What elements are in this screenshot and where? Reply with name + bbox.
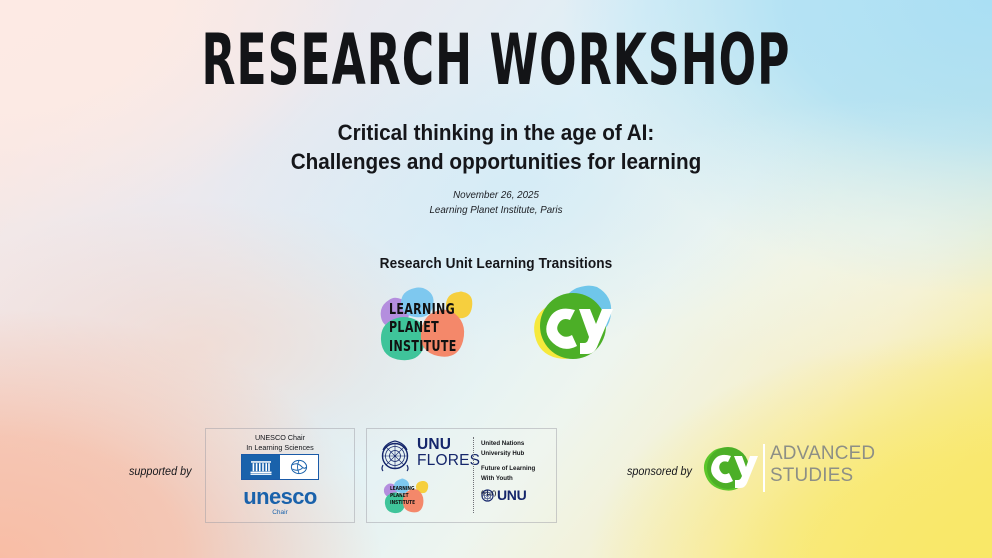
page-title: RESEARCH WORKSHOP <box>149 24 843 97</box>
subtitle-line-1: Critical thinking in the age of AI: <box>40 118 953 147</box>
unu-flores-panel: UNU FLORES LEARNING PLANET INSTITUTE <box>366 428 557 523</box>
greek-temple-icon <box>242 455 280 479</box>
unu-mark-text: UNU <box>497 487 526 503</box>
unu-hub-line-2: Future of Learning With Youth <box>481 464 548 484</box>
lpi-wordmark: LEARNING PLANET INSTITUTE <box>389 300 457 355</box>
supported-by-label: supported by <box>129 466 192 478</box>
cy-advanced-wordmark: ADVANCED STUDIES <box>770 443 875 487</box>
unu-hub-line-1: United Nations University Hub <box>481 439 548 459</box>
learning-planet-institute-logo: LEARNING PLANET INSTITUTE <box>367 280 487 372</box>
event-venue: Learning Planet Institute, Paris <box>35 203 958 218</box>
unu-panel-lpi-logo: LEARNING PLANET INSTITUTE <box>379 476 435 516</box>
unu-word: UNU <box>417 437 480 453</box>
event-date: November 26, 2025 <box>35 188 958 203</box>
unesco-chair-panel: UNESCO Chair In Learning Sciences <box>205 428 355 523</box>
lpi-line-1: LEARNING <box>389 300 457 318</box>
unu-flores-brand: UNU FLORES LEARNING PLANET INSTITUTE <box>373 434 471 516</box>
cy-advanced-divider <box>763 444 765 492</box>
main-logo-row: LEARNING PLANET INSTITUTE <box>0 278 992 374</box>
unesco-head-line-2: In Learning Sciences <box>210 443 351 453</box>
lpi-line-2: PLANET <box>389 318 457 336</box>
cy-advanced-line-2: STUDIES <box>770 465 875 487</box>
research-unit-label: Research Unit Learning Transitions <box>30 256 962 272</box>
cy-advanced-studies-logo: ADVANCED STUDIES <box>700 440 875 498</box>
unu-logo-mark: UNU <box>481 487 526 503</box>
subtitle: Critical thinking in the age of AI: Chal… <box>40 118 953 177</box>
united-nations-emblem-icon <box>377 438 413 474</box>
cy-university-logo <box>523 280 625 372</box>
unu-lpi-line-1: LEARNING <box>390 486 415 493</box>
panel-divider <box>473 437 474 513</box>
cy-mark-icon <box>700 440 762 496</box>
cy-advanced-line-1: ADVANCED <box>770 443 875 465</box>
unu-panel-lpi-wordmark: LEARNING PLANET INSTITUTE <box>390 486 415 507</box>
poster-canvas: RESEARCH WORKSHOP Critical thinking in t… <box>0 0 992 558</box>
unu-lpi-line-3: INSTITUTE <box>390 500 415 507</box>
unu-lpi-line-2: PLANET <box>390 493 415 500</box>
un-emblem-small-icon <box>481 489 494 502</box>
unu-flores-wordmark: UNU FLORES <box>417 437 480 469</box>
sponsored-by-label: sponsored by <box>627 466 692 478</box>
cy-logo-icon <box>523 280 625 372</box>
unesco-globe-icon <box>280 455 318 479</box>
unesco-head-line-1: UNESCO Chair <box>210 433 351 443</box>
cy-advanced-mark <box>700 440 762 496</box>
unesco-chair-heading: UNESCO Chair In Learning Sciences <box>210 433 351 454</box>
lpi-line-3: INSTITUTE <box>389 337 457 355</box>
event-meta: November 26, 2025 Learning Planet Instit… <box>35 188 958 218</box>
unesco-wordmark: unesco <box>206 486 354 508</box>
flores-word: FLORES <box>417 453 480 469</box>
unesco-emblem <box>241 454 319 480</box>
unesco-chair-caption: Chair <box>206 509 354 516</box>
subtitle-line-2: Challenges and opportunities for learnin… <box>40 147 953 176</box>
